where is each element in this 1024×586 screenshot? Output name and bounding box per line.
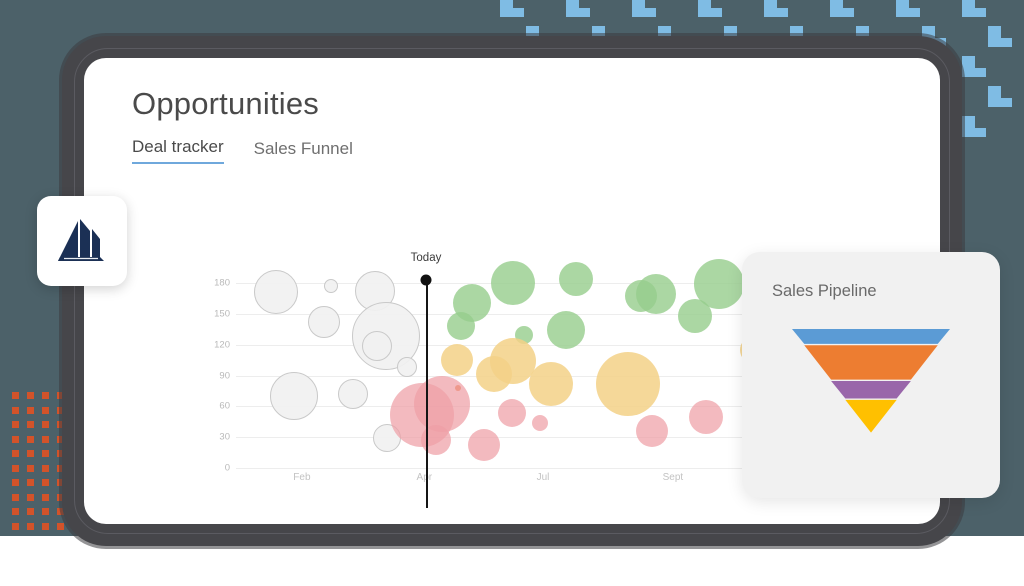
chart-bubble[interactable] <box>338 379 368 409</box>
decorative-orange-dot <box>27 436 34 443</box>
chart-x-axis: FebAprJulSeptNov <box>236 472 801 488</box>
decorative-orange-dot <box>42 450 49 457</box>
tab-sales-funnel[interactable]: Sales Funnel <box>254 139 353 164</box>
chart-bubble[interactable] <box>689 400 723 434</box>
decorative-orange-dot <box>27 407 34 414</box>
chart-plot-area <box>236 268 801 468</box>
sales-funnel-chart <box>792 329 950 434</box>
decorative-orange-dot <box>12 392 19 399</box>
chart-bubble[interactable] <box>625 280 657 312</box>
decorative-l-shape <box>764 0 777 17</box>
chart-x-tick-label: Feb <box>293 472 310 483</box>
decorative-l-shape <box>962 56 975 77</box>
decorative-orange-dot <box>42 407 49 414</box>
chart-gridline <box>236 437 801 438</box>
chart-x-tick-label: Jul <box>537 472 550 483</box>
chart-bubble[interactable] <box>397 357 417 377</box>
decorative-orange-dot <box>27 479 34 486</box>
decorative-orange-dot <box>12 494 19 501</box>
chart-y-tick-label: 30 <box>219 432 230 443</box>
tab-bar: Deal tracker Sales Funnel <box>132 137 906 164</box>
chart-bubble[interactable] <box>270 372 318 420</box>
decorative-l-shape <box>962 0 975 17</box>
funnel-segment-qualify[interactable] <box>804 345 938 379</box>
chart-y-axis: 0306090120150180 <box>214 268 230 468</box>
decorative-orange-dot <box>42 494 49 501</box>
decorative-orange-dot <box>12 479 19 486</box>
decorative-orange-dot <box>12 508 19 515</box>
chart-bubble[interactable] <box>529 362 573 406</box>
chart-bubble[interactable] <box>254 270 298 314</box>
decorative-l-shape <box>962 116 975 137</box>
decorative-orange-dot <box>42 436 49 443</box>
decorative-orange-dot <box>12 523 19 530</box>
chart-bubble[interactable] <box>532 415 548 431</box>
chart-y-tick-label: 150 <box>214 309 230 320</box>
chart-y-tick-label: 0 <box>225 463 230 474</box>
decorative-orange-dot <box>42 508 49 515</box>
chart-bubble[interactable] <box>547 311 585 349</box>
chart-bubble[interactable] <box>447 312 475 340</box>
chart-x-tick-label: Apr <box>417 472 433 483</box>
chart-y-tick-label: 60 <box>219 401 230 412</box>
chart-bubble[interactable] <box>468 429 500 461</box>
sales-pipeline-card[interactable]: Sales Pipeline <box>742 252 1000 498</box>
page-title: Opportunities <box>132 88 906 119</box>
decorative-orange-dot <box>42 479 49 486</box>
decorative-orange-dot <box>12 465 19 472</box>
decorative-orange-dot <box>12 407 19 414</box>
sales-pipeline-title: Sales Pipeline <box>772 282 877 301</box>
decorative-orange-dot <box>27 450 34 457</box>
decorative-l-shape <box>988 26 1001 47</box>
chart-bubble[interactable] <box>362 331 392 361</box>
funnel-segment-close[interactable] <box>845 400 896 433</box>
decorative-l-shape <box>988 86 1001 107</box>
chart-bubble[interactable] <box>491 261 535 305</box>
chart-bubble[interactable] <box>308 306 340 338</box>
dynamics-logo-tile <box>37 196 127 286</box>
chart-bubble[interactable] <box>498 399 526 427</box>
decorative-orange-dot <box>27 494 34 501</box>
decorative-l-shape <box>632 0 645 17</box>
decorative-l-shape <box>566 0 579 17</box>
chart-bubble[interactable] <box>441 344 473 376</box>
decorative-orange-dot <box>27 392 34 399</box>
funnel-segment-propose[interactable] <box>831 381 911 399</box>
decorative-orange-dot <box>42 465 49 472</box>
decorative-orange-dot <box>12 450 19 457</box>
decorative-orange-dot <box>42 523 49 530</box>
chart-y-tick-label: 120 <box>214 339 230 350</box>
chart-bubble[interactable] <box>636 415 668 447</box>
today-marker-label: Today <box>411 252 442 264</box>
decorative-orange-dot <box>42 421 49 428</box>
decorative-orange-dot <box>27 465 34 472</box>
chart-bubble[interactable] <box>694 259 744 309</box>
decorative-l-shape <box>698 0 711 17</box>
chart-y-tick-label: 180 <box>214 278 230 289</box>
chart-bubble[interactable] <box>559 262 593 296</box>
decorative-orange-dot <box>57 523 64 530</box>
today-marker-line <box>426 280 428 508</box>
tab-deal-tracker[interactable]: Deal tracker <box>132 137 224 164</box>
chart-bubble[interactable] <box>596 352 660 416</box>
decorative-orange-dot <box>12 436 19 443</box>
decorative-orange-dot <box>27 421 34 428</box>
decorative-orange-dot <box>12 421 19 428</box>
decorative-orange-dot <box>27 523 34 530</box>
funnel-segment-lead[interactable] <box>792 329 950 344</box>
decorative-l-shape <box>830 0 843 17</box>
dynamics-sail-logo-icon <box>56 217 108 265</box>
decorative-l-shape <box>500 0 513 17</box>
today-marker-dot <box>421 275 432 286</box>
decorative-orange-dot <box>27 508 34 515</box>
decorative-orange-dot <box>42 392 49 399</box>
decorative-l-shape <box>896 0 909 17</box>
screenshot-stage: Opportunities Deal tracker Sales Funnel … <box>0 0 1024 586</box>
chart-bubble[interactable] <box>324 279 338 293</box>
chart-gridline <box>236 468 801 469</box>
chart-y-tick-label: 90 <box>219 370 230 381</box>
chart-x-tick-label: Sept <box>663 472 684 483</box>
